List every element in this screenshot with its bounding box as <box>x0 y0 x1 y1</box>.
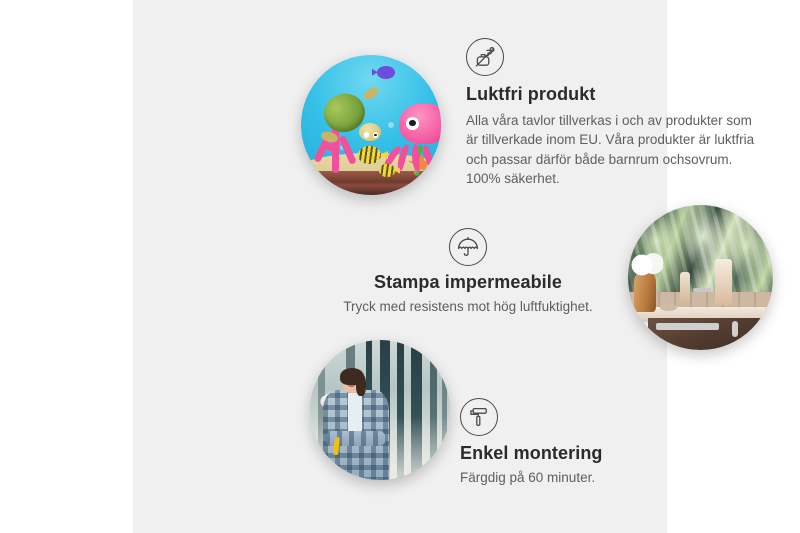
feature-title: Luktfri produkt <box>466 84 758 106</box>
feature-easy-mounting: Enkel montering Färgdig på 60 minuter. <box>460 398 720 487</box>
soap-dispenser-icon <box>715 259 732 305</box>
product-photo-forest-mural[interactable] <box>310 340 450 480</box>
soap-dish-icon <box>660 304 677 311</box>
bathroom-scene <box>628 205 773 350</box>
feature-odour-free: Luktfri produkt Alla våra tavlor tillver… <box>466 38 758 189</box>
hair-side <box>356 374 366 396</box>
woman-with-paint-roller <box>318 368 396 480</box>
white-tshirt <box>348 393 362 433</box>
paint-roller-icon <box>460 398 498 436</box>
feature-title: Stampa impermeabile <box>374 272 562 294</box>
ocean-scene <box>301 55 441 195</box>
sea-turtle-icon <box>321 91 383 144</box>
feature-description: Alla våra tavlor tillverkas i och av pro… <box>466 111 758 189</box>
content-panel: Luktfri produkt Alla våra tavlor tillver… <box>133 0 667 533</box>
soap-bottle-icon <box>680 272 690 304</box>
wood-vanity-cabinet <box>648 318 773 350</box>
ocean-foreground-band <box>301 171 441 195</box>
yellow-fish-icon <box>379 164 394 177</box>
feature-title: Enkel montering <box>460 443 720 465</box>
product-photo-bathroom-mural[interactable] <box>628 205 773 350</box>
umbrella-icon <box>449 228 487 266</box>
feature-description: Tryck med resistens mot hög luftfuktighe… <box>343 297 592 317</box>
feature-description: Färgdig på 60 minuter. <box>460 468 720 488</box>
white-flowers-icon <box>628 253 663 278</box>
vase-icon <box>634 272 656 313</box>
faucet-icon <box>693 288 710 292</box>
forest-scene <box>310 340 450 480</box>
feature-waterproof-print: Stampa impermeabile Tryck med resistens … <box>328 228 608 316</box>
blue-fish-icon <box>377 66 395 79</box>
product-photo-ocean-mural[interactable] <box>301 55 441 195</box>
no-odour-perfume-bottle-icon <box>466 38 504 76</box>
octopus-icon <box>385 103 441 167</box>
yellow-fish-icon <box>358 146 380 164</box>
screenshot-stage: Luktfri produkt Alla våra tavlor tillver… <box>0 0 800 533</box>
